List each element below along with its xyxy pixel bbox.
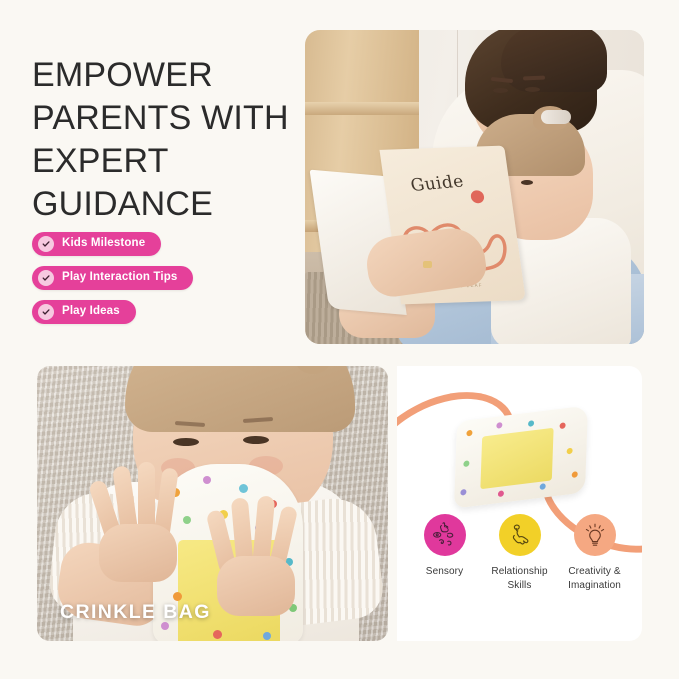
baby-hair-bow xyxy=(541,110,571,124)
benefit-relationship-skills[interactable]: Relationship Skills xyxy=(483,514,557,592)
book-title: Guide xyxy=(409,172,466,196)
page-title: EMPOWER PARENTS WITH EXPERT GUIDANCE xyxy=(32,54,302,227)
benefit-label: Relationship Skills xyxy=(483,565,557,592)
feature-pill-play-interaction-tips[interactable]: Play Interaction Tips xyxy=(32,266,193,290)
crinkle-bag-product-image xyxy=(454,405,588,508)
feature-pill-play-ideas[interactable]: Play Ideas xyxy=(32,300,136,324)
check-circle-icon xyxy=(38,236,54,252)
check-circle-icon xyxy=(38,304,54,320)
check-circle-icon xyxy=(38,270,54,286)
benefit-icon-row: Sensory Relationship Skills xyxy=(407,514,632,592)
promo-infographic: EMPOWER PARENTS WITH EXPERT GUIDANCE Kid… xyxy=(0,0,679,679)
wedding-ring xyxy=(423,261,432,268)
pointing-hand-icon xyxy=(499,514,541,556)
baby-hand-right xyxy=(209,494,305,624)
guide-book: Guide TINY LEAF xyxy=(309,137,525,323)
lightbulb-icon xyxy=(574,514,616,556)
photo-baby-with-crinkle-bag: CRINKLE BAG xyxy=(37,366,388,641)
sensory-senses-icon xyxy=(424,514,466,556)
feature-pill-kids-milestone[interactable]: Kids Milestone xyxy=(32,232,161,256)
feature-pill-label: Play Ideas xyxy=(62,306,120,318)
benefit-creativity-imagination[interactable]: Creativity & Imagination xyxy=(558,514,632,592)
feature-pill-label: Kids Milestone xyxy=(62,238,145,250)
benefit-sensory[interactable]: Sensory xyxy=(408,514,482,579)
photo-mother-reading-guide: Guide TINY LEAF xyxy=(305,30,644,344)
feature-pill-label: Play Interaction Tips xyxy=(62,272,177,284)
benefit-label: Sensory xyxy=(426,565,463,579)
baby-hand-left xyxy=(95,462,191,588)
benefits-panel: Sensory Relationship Skills xyxy=(397,366,642,641)
benefit-label: Creativity & Imagination xyxy=(558,565,632,592)
feature-pill-list: Kids Milestone Play Interaction Tips Pla… xyxy=(32,232,193,334)
product-yellow-patch xyxy=(480,428,553,489)
photo-caption: CRINKLE BAG xyxy=(60,601,211,624)
baby-hair xyxy=(125,366,355,432)
